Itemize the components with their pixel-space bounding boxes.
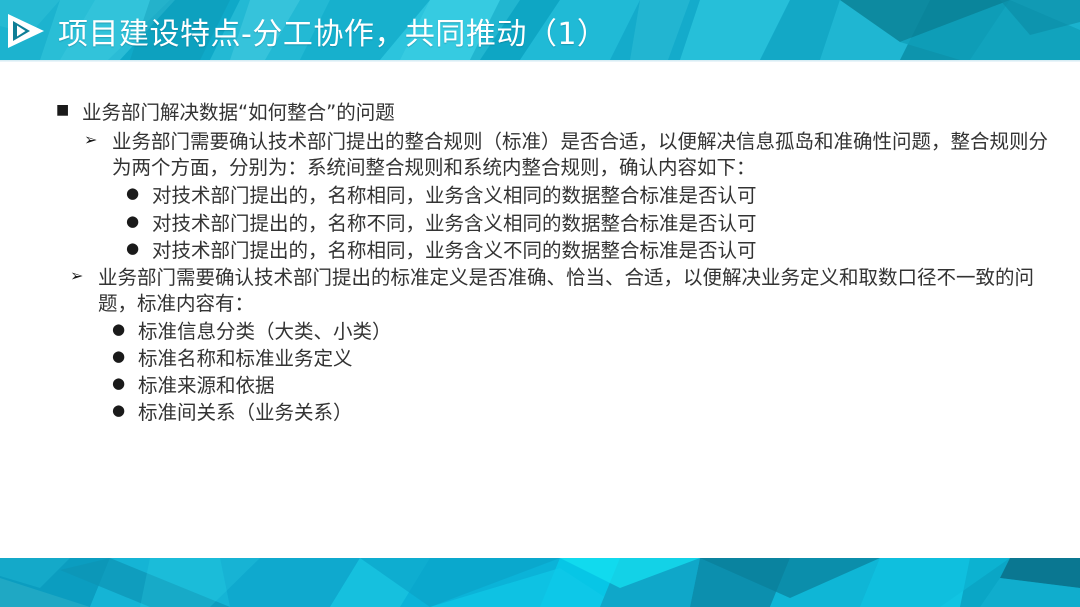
slide-body: ■ 业务部门解决数据“如何整合”的问题 ➢ 业务部门需要确认技术部门提出的整合规… (0, 62, 1080, 558)
list-item-text: 业务部门需要确认技术部门提出的整合规则（标准）是否合适，以便解决信息孤岛和准确性… (112, 129, 1058, 181)
dot-bullet-icon: ● (126, 211, 152, 231)
list-item: ● 对技术部门提出的，名称不同，业务含义相同的数据整合标准是否认可 (126, 211, 1058, 237)
slide: 项目建设特点-分工协作，共同推动（1） ■ 业务部门解决数据“如何整合”的问题 … (0, 0, 1080, 607)
dot-bullet-icon: ● (112, 346, 138, 366)
dot-bullet-icon: ● (126, 183, 152, 203)
list-item-text: 对技术部门提出的，名称不同，业务含义相同的数据整合标准是否认可 (152, 211, 1058, 237)
list-item: ➢ 业务部门需要确认技术部门提出的标准定义是否准确、恰当、合适，以便解决业务定义… (70, 265, 1058, 317)
list-item-text: 标准间关系（业务关系） (138, 400, 1058, 426)
list-item: ● 标准间关系（业务关系） (112, 400, 1058, 426)
arrow-bullet-icon: ➢ (84, 129, 112, 151)
list-item: ● 对技术部门提出的，名称相同，业务含义不同的数据整合标准是否认可 (126, 238, 1058, 264)
dot-bullet-icon: ● (126, 238, 152, 258)
list-item: ● 标准来源和依据 (112, 373, 1058, 399)
list-item: ➢ 业务部门需要确认技术部门提出的整合规则（标准）是否合适，以便解决信息孤岛和准… (84, 129, 1058, 181)
footer-polygon-pattern (0, 558, 1080, 607)
arrow-bullet-icon: ➢ (70, 265, 98, 287)
list-item-text: 标准名称和标准业务定义 (138, 346, 1058, 372)
list-item-text: 业务部门解决数据“如何整合”的问题 (82, 100, 1058, 126)
list-item: ● 标准名称和标准业务定义 (112, 346, 1058, 372)
list-item-text: 标准来源和依据 (138, 373, 1058, 399)
list-item: ■ 业务部门解决数据“如何整合”的问题 (56, 100, 1058, 126)
page-title: 项目建设特点-分工协作，共同推动（1） (58, 8, 607, 54)
list-item: ● 标准信息分类（大类、小类） (112, 319, 1058, 345)
dot-bullet-icon: ● (112, 319, 138, 339)
list-item-text: 业务部门需要确认技术部门提出的标准定义是否准确、恰当、合适，以便解决业务定义和取… (98, 265, 1058, 317)
list-item-text: 对技术部门提出的，名称相同，业务含义相同的数据整合标准是否认可 (152, 183, 1058, 209)
list-item-text: 标准信息分类（大类、小类） (138, 319, 1058, 345)
dot-bullet-icon: ● (112, 373, 138, 393)
list-item: ● 对技术部门提出的，名称相同，业务含义相同的数据整合标准是否认可 (126, 183, 1058, 209)
list-item-text: 对技术部门提出的，名称相同，业务含义不同的数据整合标准是否认可 (152, 238, 1058, 264)
slide-footer (0, 558, 1080, 607)
square-bullet-icon: ■ (56, 100, 82, 122)
slide-header: 项目建设特点-分工协作，共同推动（1） (0, 0, 1080, 60)
play-triangle-logo-icon (4, 11, 48, 51)
bullet-list: ■ 业务部门解决数据“如何整合”的问题 ➢ 业务部门需要确认技术部门提出的整合规… (56, 100, 1058, 428)
dot-bullet-icon: ● (112, 400, 138, 420)
